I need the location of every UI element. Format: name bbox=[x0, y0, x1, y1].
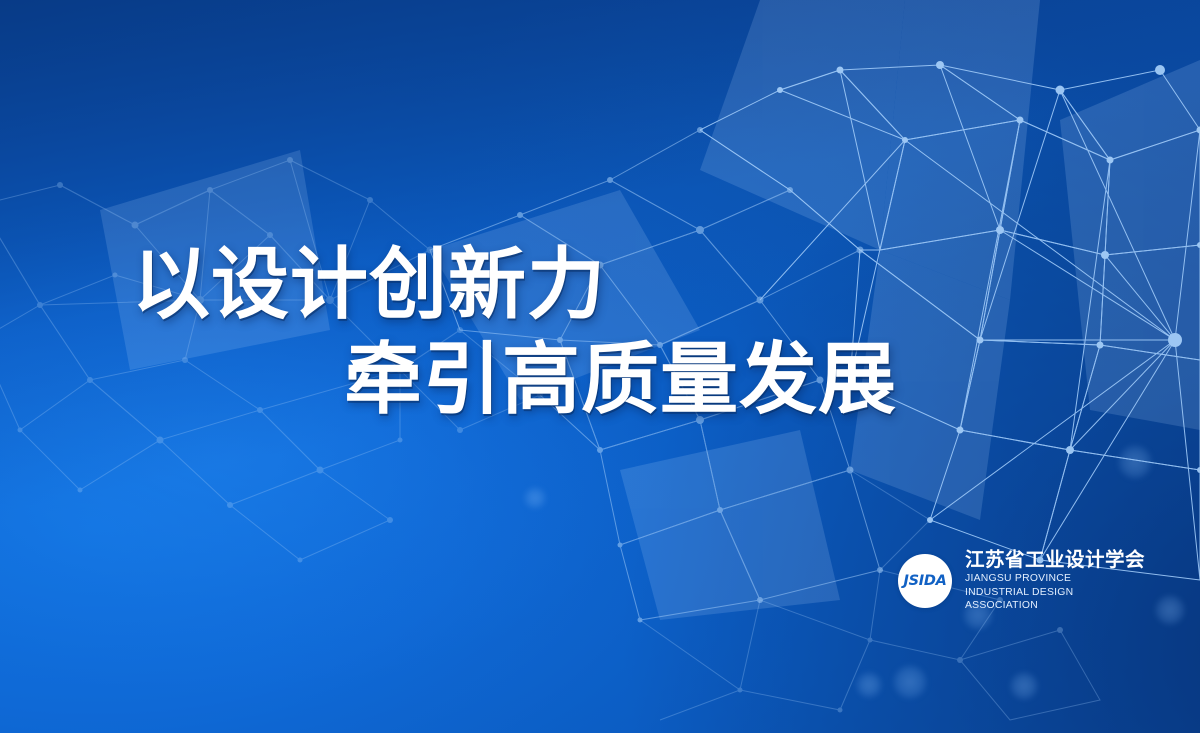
title-line-2: 牵引高质量发展 bbox=[0, 333, 900, 428]
logo-wordmark: 江苏省工业设计学会 JIANGSU PROVINCE INDUSTRIAL DE… bbox=[965, 549, 1145, 612]
association-logo: JSIDA 江苏省工业设计学会 JIANGSU PROVINCE INDUSTR… bbox=[898, 549, 1145, 612]
logo-mark-label: JSIDA bbox=[904, 573, 947, 589]
logo-name-cn: 江苏省工业设计学会 bbox=[965, 549, 1145, 571]
logo-name-en: JIANGSU PROVINCE INDUSTRIAL DESIGN ASSOC… bbox=[965, 572, 1127, 612]
title-line-1: 以设计创新力 bbox=[0, 238, 900, 333]
jsida-circle-icon: JSIDA bbox=[898, 554, 952, 608]
page-title: 以设计创新力 牵引高质量发展 bbox=[0, 238, 900, 428]
title-slide: 以设计创新力 牵引高质量发展 JSIDA 江苏省工业设计学会 JIANGSU P… bbox=[0, 0, 1200, 733]
